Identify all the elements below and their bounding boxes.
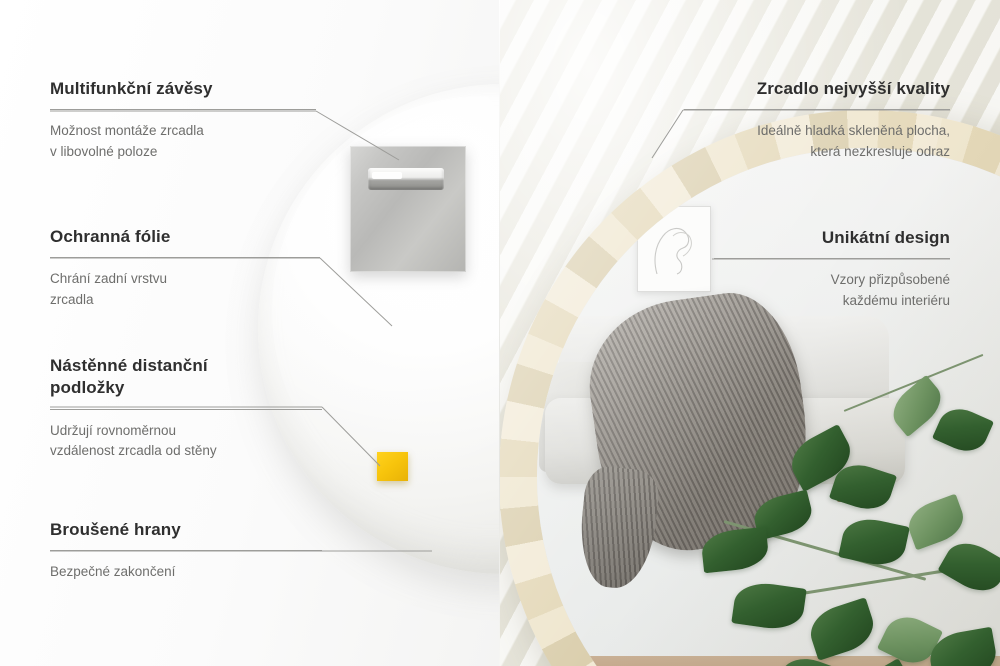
callout-wall-spacers: Nástěnné distanční podložky Udržují rovn… — [50, 355, 322, 462]
hanger-plate — [350, 146, 466, 272]
body-line: Chrání zadní vrstvu — [50, 271, 167, 286]
callout-polished-edges: Broušené hrany Bezpečné zakončení — [50, 519, 322, 583]
title-line: Nástěnné distanční — [50, 356, 208, 375]
leaf — [932, 402, 994, 459]
body-line: zrcadla — [50, 292, 94, 307]
body-line: Ideálně hladká skleněná plocha, — [757, 123, 950, 138]
body-line: v libovolné poloze — [50, 144, 157, 159]
reflected-framed-artwork — [637, 206, 711, 292]
callout-rule — [50, 109, 316, 110]
callout-unique-design: Unikátní design Vzory přizpůsobené každé… — [714, 227, 950, 311]
body-line: Vzory přizpůsobené — [831, 272, 950, 287]
line-art-faces-icon — [647, 216, 701, 282]
callout-protective-foil-title: Ochranná fólie — [50, 226, 320, 248]
reflected-throw-fringe — [575, 464, 661, 591]
leaf — [804, 597, 879, 661]
callout-unique-design-title: Unikátní design — [714, 227, 950, 249]
callout-polished-edges-body: Bezpečné zakončení — [50, 562, 322, 583]
hanger-slot — [368, 168, 444, 190]
body-line: vzdálenost zrcadla od stěny — [50, 443, 217, 458]
callout-rule — [50, 409, 322, 410]
reflected-sofa-leg — [601, 480, 609, 502]
leaf — [700, 527, 770, 574]
leaf — [838, 514, 910, 570]
callout-rule — [50, 550, 322, 551]
callout-polished-edges-title: Broušené hrany — [50, 519, 322, 541]
callout-rule — [714, 258, 950, 259]
callout-rule — [50, 257, 320, 258]
callout-top-quality-mirror-title: Zrcadlo nejvyšší kvality — [684, 78, 950, 100]
spacer-pad — [377, 452, 408, 481]
callout-top-quality-mirror: Zrcadlo nejvyšší kvality Ideálně hladká … — [684, 78, 950, 162]
title-line: podložky — [50, 378, 124, 397]
callout-unique-design-body: Vzory přizpůsobené každému interiéru — [714, 270, 950, 311]
callout-hangers-body: Možnost montáže zrcadla v libovolné polo… — [50, 121, 316, 162]
callout-top-quality-mirror-body: Ideálně hladká skleněná plocha, která ne… — [684, 121, 950, 162]
infographic-canvas: Multifunkční závěsy Možnost montáže zrca… — [0, 0, 1000, 666]
leaf — [938, 534, 1000, 600]
body-line: každému interiéru — [843, 293, 950, 308]
body-line: Udržují rovnoměrnou — [50, 423, 176, 438]
callout-wall-spacers-body: Udržují rovnoměrnou vzdálenost zrcadla o… — [50, 421, 322, 462]
foliage-branch — [694, 370, 1000, 666]
leaf — [731, 579, 806, 632]
callout-rule — [684, 109, 950, 110]
callout-protective-foil: Ochranná fólie Chrání zadní vrstvu zrcad… — [50, 226, 320, 310]
body-line: která nezkresluje odraz — [810, 144, 950, 159]
body-line: Možnost montáže zrcadla — [50, 123, 204, 138]
reflected-sofa-arm — [539, 362, 611, 472]
callout-hangers-title: Multifunkční závěsy — [50, 78, 316, 100]
callout-protective-foil-body: Chrání zadní vrstvu zrcadla — [50, 269, 320, 310]
leaf — [903, 494, 969, 551]
callout-hangers: Multifunkční závěsy Možnost montáže zrca… — [50, 78, 316, 162]
callout-wall-spacers-title: Nástěnné distanční podložky — [50, 355, 322, 400]
